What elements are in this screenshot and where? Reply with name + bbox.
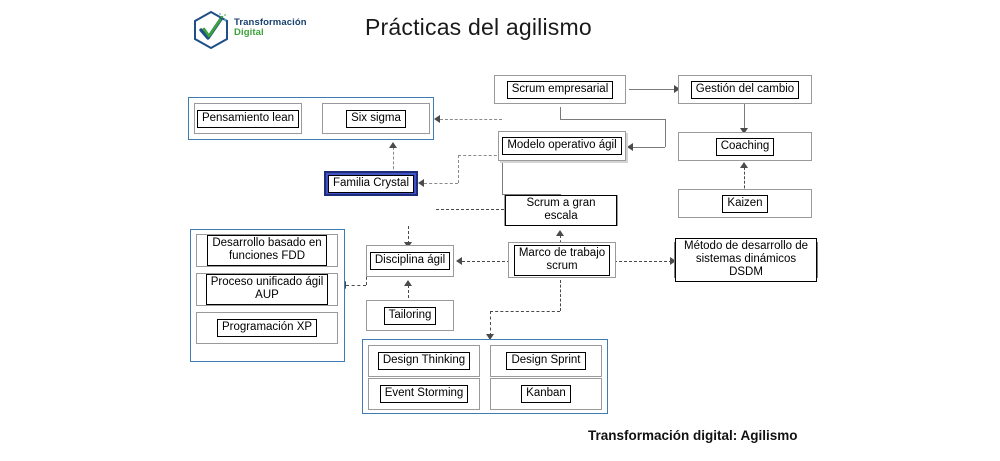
connector-marco-across-left [490, 311, 560, 312]
brand-logo-line2: Digital [234, 28, 307, 38]
connector-marco-down-to-design [490, 311, 491, 336]
connector-scrum-emp-down [560, 107, 561, 119]
connector-marco-to-dsdm [614, 261, 672, 262]
node-kanban[interactable]: Kanban [490, 378, 602, 410]
connector-modelo-down-dash [458, 155, 459, 183]
connector-scrum-gran-escala-left [436, 209, 504, 210]
node-modelo-operativo-agil-label: Modelo operativo ágil [502, 137, 621, 155]
connector-gestion-to-coaching [744, 104, 745, 130]
connector-scrum-empresarial-to-gestion [629, 89, 676, 90]
connector-marco-to-disciplina [462, 261, 510, 262]
node-programacion-xp[interactable]: Programación XP [196, 312, 338, 344]
node-design-sprint[interactable]: Design Sprint [490, 345, 602, 377]
node-scrum-empresarial[interactable]: Scrum empresarial [494, 75, 626, 104]
node-kaizen-label: Kaizen [722, 195, 767, 213]
node-coaching-label: Coaching [716, 138, 775, 156]
node-scrum-empresarial-label: Scrum empresarial [507, 81, 614, 99]
node-tailoring-label: Tailoring [384, 307, 437, 325]
diagram-canvas: Transformación Digital Prácticas del agi… [0, 0, 1000, 461]
brand-logo-text: Transformación Digital [234, 18, 307, 38]
footer-caption: Transformación digital: Agilismo [588, 428, 798, 443]
node-familia-crystal[interactable]: Familia Crystal [324, 171, 418, 196]
connector-scrum-emp-down2 [665, 119, 666, 147]
node-design-sprint-label: Design Sprint [506, 352, 585, 370]
node-desarrollo-funciones-fdd-label: Desarrollo basado en funciones FDD [207, 235, 326, 266]
connector-modelo-left-dash [458, 155, 502, 156]
hexagon-check-logo-icon [190, 10, 232, 50]
node-gestion-del-cambio-label: Gestión del cambio [691, 81, 799, 99]
node-coaching[interactable]: Coaching [678, 132, 812, 161]
node-dsdm[interactable]: Método de desarrollo de sistemas dinámic… [674, 242, 818, 278]
connector-into-modelo [633, 147, 665, 148]
connector-marco-down [560, 280, 561, 311]
node-kanban-label: Kanban [521, 385, 571, 403]
node-proceso-unificado-aup[interactable]: Proceso unificado ágil AUP [196, 273, 338, 306]
node-gestion-del-cambio[interactable]: Gestión del cambio [678, 75, 812, 104]
connector-disciplina-to-practices-h [346, 285, 366, 286]
brand-logo: Transformación Digital [190, 8, 315, 52]
node-dsdm-label: Método de desarrollo de sistemas dinámic… [675, 238, 817, 282]
node-scrum-a-gran-escala[interactable]: Scrum a gran escala [504, 195, 618, 226]
arrowhead-tailoring-to-disciplina [404, 280, 412, 286]
node-modelo-operativo-agil[interactable]: Modelo operativo ágil [498, 131, 626, 161]
arrowhead-to-lean-group [434, 115, 440, 123]
node-tailoring[interactable]: Tailoring [366, 300, 454, 331]
connector-to-familia-crystal [424, 183, 458, 184]
node-desarrollo-funciones-fdd[interactable]: Desarrollo basado en funciones FDD [196, 234, 338, 267]
arrowhead-to-modelo [627, 143, 633, 151]
arrowhead-to-familia-crystal [418, 179, 424, 187]
node-disciplina-agil-label: Disciplina ágil [370, 252, 450, 270]
node-pensamiento-lean-label: Pensamiento lean [197, 110, 299, 128]
arrowhead-to-disciplina-agil [456, 257, 462, 265]
node-familia-crystal-label: Familia Crystal [328, 175, 414, 193]
node-marco-de-trabajo-scrum-label: Marco de trabajo scrum [514, 245, 610, 276]
arrowhead-crystal-to-lean-group [389, 142, 397, 148]
node-six-sigma[interactable]: Six sigma [322, 103, 430, 134]
arrowhead-to-scrum-gran-escala-2 [556, 230, 564, 236]
connector-modelo-to-lean-group [440, 119, 502, 120]
node-proceso-unificado-aup-label: Proceso unificado ágil AUP [206, 274, 329, 305]
node-marco-de-trabajo-scrum[interactable]: Marco de trabajo scrum [508, 242, 616, 278]
connector-scrum-emp-across [560, 119, 665, 120]
node-kaizen[interactable]: Kaizen [678, 189, 812, 218]
node-pensamiento-lean[interactable]: Pensamiento lean [194, 103, 302, 134]
page-title: Prácticas del agilismo [365, 14, 665, 41]
node-event-storming-label: Event Storming [380, 385, 469, 403]
node-scrum-a-gran-escala-label: Scrum a gran escala [505, 195, 617, 226]
node-six-sigma-label: Six sigma [346, 110, 406, 128]
node-disciplina-agil[interactable]: Disciplina ágil [366, 245, 454, 277]
node-design-thinking-label: Design Thinking [378, 352, 470, 370]
node-design-thinking[interactable]: Design Thinking [368, 345, 480, 377]
node-programacion-xp-label: Programación XP [217, 319, 317, 337]
node-event-storming[interactable]: Event Storming [368, 378, 480, 410]
arrowhead-to-coaching-from-kaizen [740, 162, 748, 168]
